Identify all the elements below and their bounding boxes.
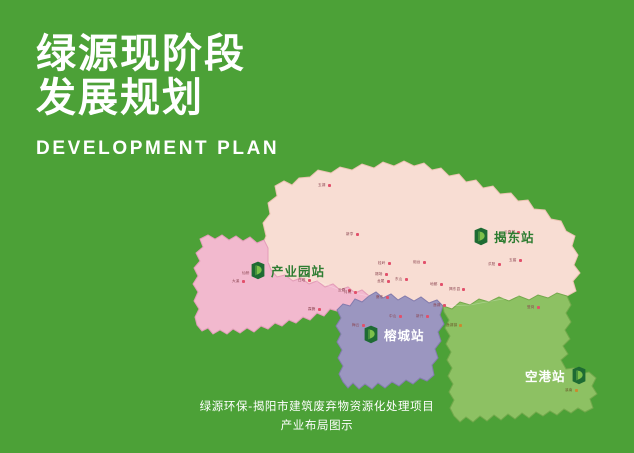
station-jiedong-station[interactable]: 揭东站 (473, 227, 535, 246)
station-label: 揭东站 (494, 227, 535, 246)
station-logo (250, 261, 266, 280)
map-container (0, 0, 634, 453)
leaf-logo-icon (363, 325, 379, 344)
station-label: 榕城站 (384, 325, 425, 344)
caption-line-2: 产业布局图示 (0, 416, 634, 435)
map-svg (0, 0, 634, 453)
station-label: 空港站 (525, 366, 566, 385)
station-rongcheng-station[interactable]: 榕城站 (363, 325, 425, 344)
leaf-logo-icon (571, 366, 587, 385)
station-logo (571, 366, 587, 385)
leaf-logo-icon (473, 227, 489, 246)
station-konggang-station[interactable]: 空港站 (525, 366, 587, 385)
caption-block: 绿源环保-揭阳市建筑废弃物资源化处理项目 产业布局图示 (0, 397, 634, 435)
leaf-logo-icon (250, 261, 266, 280)
station-logo (363, 325, 379, 344)
caption-line-1: 绿源环保-揭阳市建筑废弃物资源化处理项目 (0, 397, 634, 416)
station-logo (473, 227, 489, 246)
poster-root: 绿源现阶段 发展规划 DEVELOPMENT PLAN 产业园站揭东站榕城站空港… (0, 0, 634, 453)
station-chanyeyuan-station[interactable]: 产业园站 (250, 261, 325, 280)
station-label: 产业园站 (271, 261, 325, 280)
